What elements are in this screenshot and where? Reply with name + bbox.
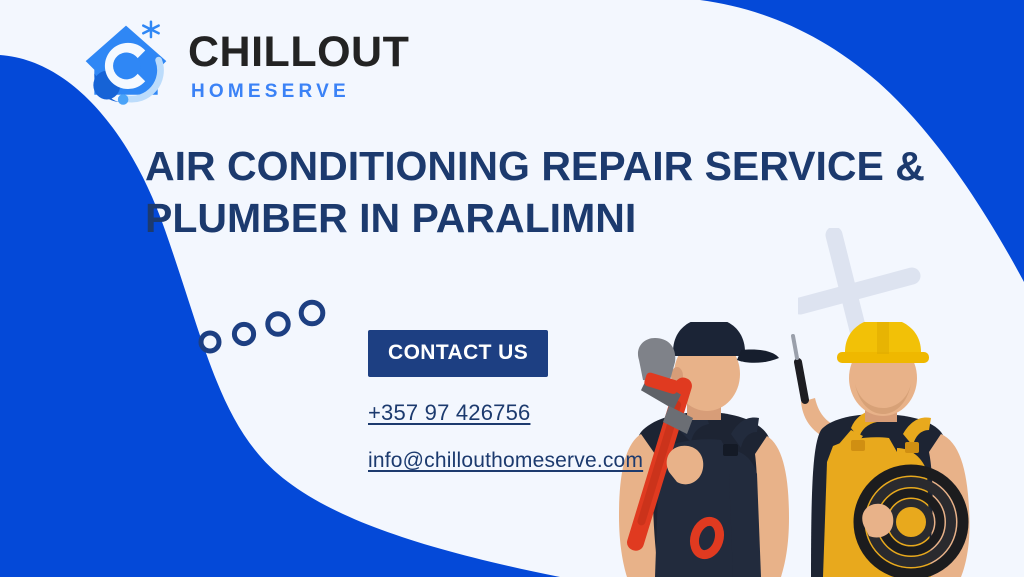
page-title: AIR CONDITIONING REPAIR SERVICE & PLUMBE… bbox=[145, 140, 935, 245]
plumber-with-pipe-wrench bbox=[619, 322, 789, 577]
workers-illustration bbox=[615, 322, 1024, 577]
dot-4 bbox=[301, 302, 323, 324]
dot-1 bbox=[201, 333, 219, 351]
dot-3 bbox=[268, 314, 288, 334]
decorative-dots bbox=[196, 296, 336, 356]
brand-name: CHILLOUT bbox=[188, 31, 409, 75]
promotional-banner: CHILLOUT HOMESERVE AIR CONDITIONING REPA… bbox=[0, 0, 1024, 577]
phone-link[interactable]: +357 97 426756 bbox=[368, 400, 643, 426]
contact-section: CONTACT US +357 97 426756 info@chillouth… bbox=[368, 330, 643, 473]
technician-with-screwdriver bbox=[793, 322, 970, 577]
dot-2 bbox=[234, 324, 253, 343]
contact-us-button[interactable]: CONTACT US bbox=[368, 330, 548, 377]
brand-logo[interactable]: CHILLOUT HOMESERVE bbox=[78, 16, 409, 112]
brand-tagline: HOMESERVE bbox=[191, 82, 409, 101]
yellow-hard-hat-icon bbox=[837, 322, 929, 363]
house-snowflake-c-icon bbox=[78, 16, 174, 112]
email-link[interactable]: info@chillouthomeserve.com bbox=[368, 449, 643, 473]
brand-wordmark: CHILLOUT HOMESERVE bbox=[188, 27, 409, 101]
screwdriver-icon bbox=[793, 336, 805, 400]
